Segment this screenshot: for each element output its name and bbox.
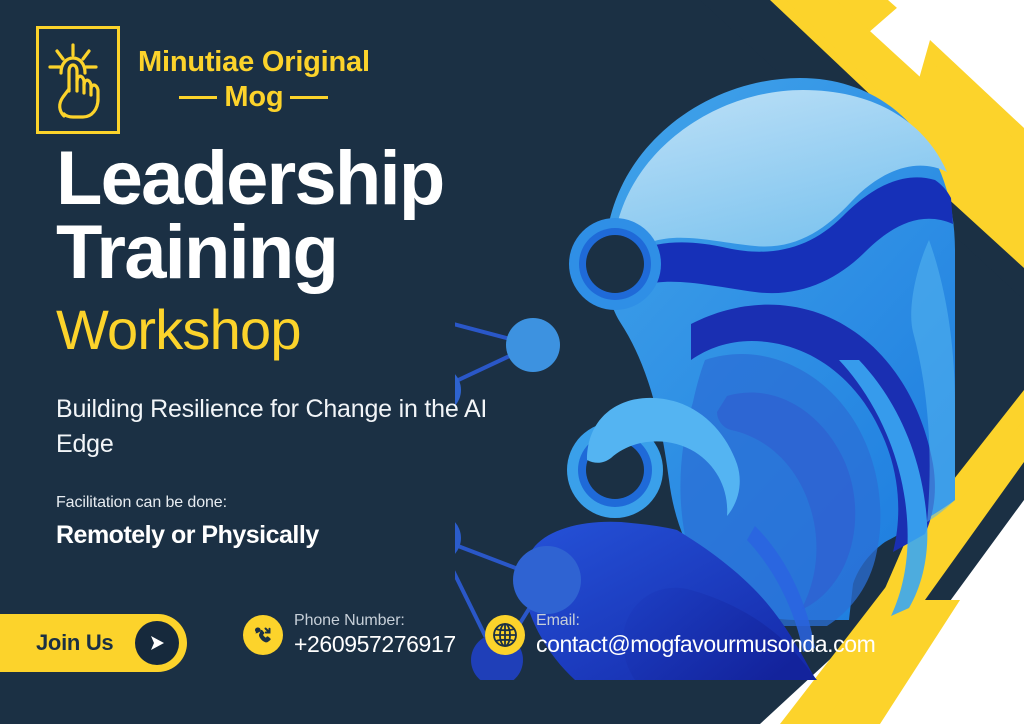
eye-upper xyxy=(569,218,661,310)
facilitation-value: Remotely or Physically xyxy=(56,521,319,550)
title-line-2: Training xyxy=(56,216,576,290)
globe-icon xyxy=(485,615,525,655)
title-accent: Workshop xyxy=(56,295,576,365)
headline-block: Leadership Training Workshop xyxy=(56,142,576,365)
hand-tap-icon xyxy=(47,41,109,119)
contact-email[interactable]: Email: contact@mogfavourmusonda.com xyxy=(485,612,875,658)
logo-line-2-row: Mog xyxy=(179,82,328,113)
brand-logo[interactable]: Minutiae Original Mog xyxy=(36,26,370,134)
email-label: Email: xyxy=(536,612,875,630)
email-value: contact@mogfavourmusonda.com xyxy=(536,632,875,658)
join-us-button[interactable]: Join Us xyxy=(0,614,187,672)
logo-line-2: Mog xyxy=(224,82,283,113)
join-us-label: Join Us xyxy=(36,630,113,656)
contact-phone[interactable]: Phone Number: +260957276917 xyxy=(243,612,456,658)
logo-frame xyxy=(36,26,120,134)
play-arrow-icon xyxy=(147,633,167,653)
title-line-1: Leadership xyxy=(56,142,576,216)
contact-phone-text: Phone Number: +260957276917 xyxy=(294,612,456,658)
poster-canvas: Minutiae Original Mog Leadership Trainin… xyxy=(0,0,1024,724)
logo-rule-right xyxy=(290,96,328,99)
facilitation-label: Facilitation can be done: xyxy=(56,494,227,512)
phone-label: Phone Number: xyxy=(294,612,456,630)
contact-email-text: Email: contact@mogfavourmusonda.com xyxy=(536,612,875,658)
logo-line-1: Minutiae Original xyxy=(138,47,370,78)
phone-value: +260957276917 xyxy=(294,632,456,658)
phone-call-icon xyxy=(243,615,283,655)
eye-lower xyxy=(567,422,663,518)
logo-wordmark: Minutiae Original Mog xyxy=(138,47,370,113)
subtitle-text: Building Resilience for Change in the AI… xyxy=(56,392,506,461)
logo-rule-left xyxy=(179,96,217,99)
join-us-arrow-circle xyxy=(135,621,179,665)
